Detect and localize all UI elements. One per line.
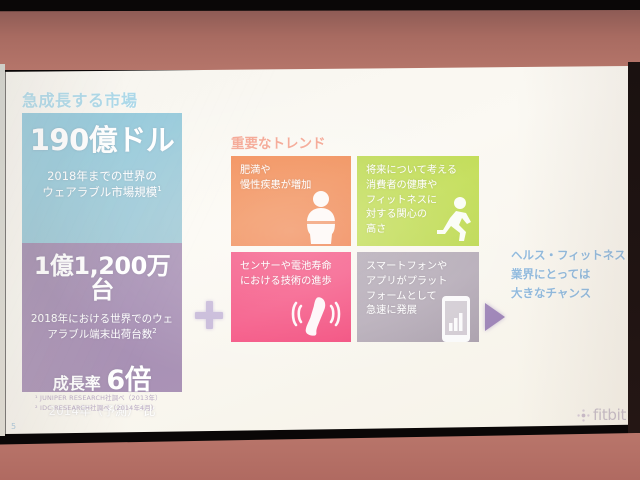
trend-tile-health-interest: 将来について考える 消費者の健康や フィットネスに 対する関心の 高さ (357, 156, 479, 246)
footnote-1: ¹ JUNIPER RESEARCH社調べ（2013年） (35, 393, 162, 403)
stat-caption-line-2: ウェアラブル市場規模1 (22, 184, 182, 200)
tile-text-line: 消費者の健康や (366, 179, 475, 194)
left-panel-heading: 急成長する市場 (22, 87, 138, 111)
projected-slide: 急成長する市場 190億ドル 2018年までの世界の ウェアラブル市場規模1 1… (3, 66, 629, 434)
stat-caption-line-1: 2018年までの世界の (22, 168, 182, 184)
trend-tile-sensor-tech: センサーや電池寿命 における技術の進歩 (231, 252, 351, 342)
wall-right-of-screen (628, 62, 640, 436)
stat-caption-text: アラブル端末出荷台数 (47, 328, 152, 340)
footstep-sensor-icon (291, 294, 341, 336)
footnote-2: ² IDC RESEARCH社調べ（2014年4月） (35, 403, 162, 413)
plus-icon (195, 301, 223, 329)
stat-value-market-size: 190億ドル (22, 113, 182, 155)
page-number: 5 (11, 422, 16, 431)
stat-caption-market-size: 2018年までの世界の ウェアラブル市場規模1 (22, 155, 182, 201)
stat-value-shipments: 1億1,200万台 (22, 243, 182, 302)
growth-label: 成長率 (53, 374, 101, 393)
stat-caption-line-1: 2018年における世界でのウェ (22, 312, 182, 327)
smartphone-chart-icon (439, 294, 473, 342)
trend-tile-smartphone-platform: スマートフォンや アプリがプラット フォームとして 急速に発展 (357, 252, 479, 342)
fitbit-wordmark: fitbit (593, 406, 626, 424)
obese-person-icon (299, 190, 343, 246)
conclusion-line: ヘルス・フィットネス (511, 246, 629, 265)
running-person-icon (433, 196, 475, 242)
tile-text-line: 肥満や (240, 164, 347, 179)
footnote-ref-2: 2 (152, 327, 156, 335)
right-arrow-icon (485, 303, 505, 331)
stat-growth-rate: 成長率 6倍 (22, 342, 182, 397)
wall-below-screen (0, 432, 640, 480)
screen-left-edge (0, 64, 5, 436)
fitbit-dot-mark-icon (577, 409, 590, 422)
tile-text-line: アプリがプラット (366, 275, 475, 290)
footnote-ref-1: 1 (157, 186, 161, 194)
stat-card-market-size: 190億ドル 2018年までの世界の ウェアラブル市場規模1 (22, 113, 182, 243)
footnotes: ¹ JUNIPER RESEARCH社調べ（2013年） ² IDC RESEA… (35, 393, 162, 414)
stat-caption-shipments: 2018年における世界でのウェ アラブル端末出荷台数2 (22, 302, 182, 342)
wall-above-screen (0, 10, 640, 70)
fitbit-logo: fitbit (577, 406, 626, 424)
tile-text-line: における技術の進歩 (240, 275, 347, 290)
trend-tile-obesity: 肥満や 慢性疾患が増加 (231, 156, 351, 246)
trend-tiles: 肥満や 慢性疾患が増加 将来について考える 消費者の健康や フィットネスに 対す… (231, 156, 479, 342)
presentation-photo: 急成長する市場 190億ドル 2018年までの世界の ウェアラブル市場規模1 1… (0, 0, 640, 480)
conclusion-line: 業界にとっては (511, 265, 629, 284)
conclusion-line: 大きなチャンス (511, 284, 629, 303)
trends-heading: 重要なトレンド (231, 132, 326, 152)
conclusion-text: ヘルス・フィットネス 業界にとっては 大きなチャンス (511, 246, 629, 303)
tile-text-line: センサーや電池寿命 (240, 260, 347, 275)
tile-text-line: 将来について考える (366, 164, 475, 179)
stat-caption-line-2: アラブル端末出荷台数2 (22, 327, 182, 342)
tile-text-line: スマートフォンや (366, 260, 475, 275)
stat-card-shipments: 1億1,200万台 2018年における世界でのウェ アラブル端末出荷台数2 成長… (22, 243, 182, 392)
trend-tile-sensor-text: センサーや電池寿命 における技術の進歩 (240, 260, 347, 290)
growth-value: 6倍 (106, 365, 151, 396)
stat-caption-text: ウェアラブル市場規模 (42, 185, 157, 199)
